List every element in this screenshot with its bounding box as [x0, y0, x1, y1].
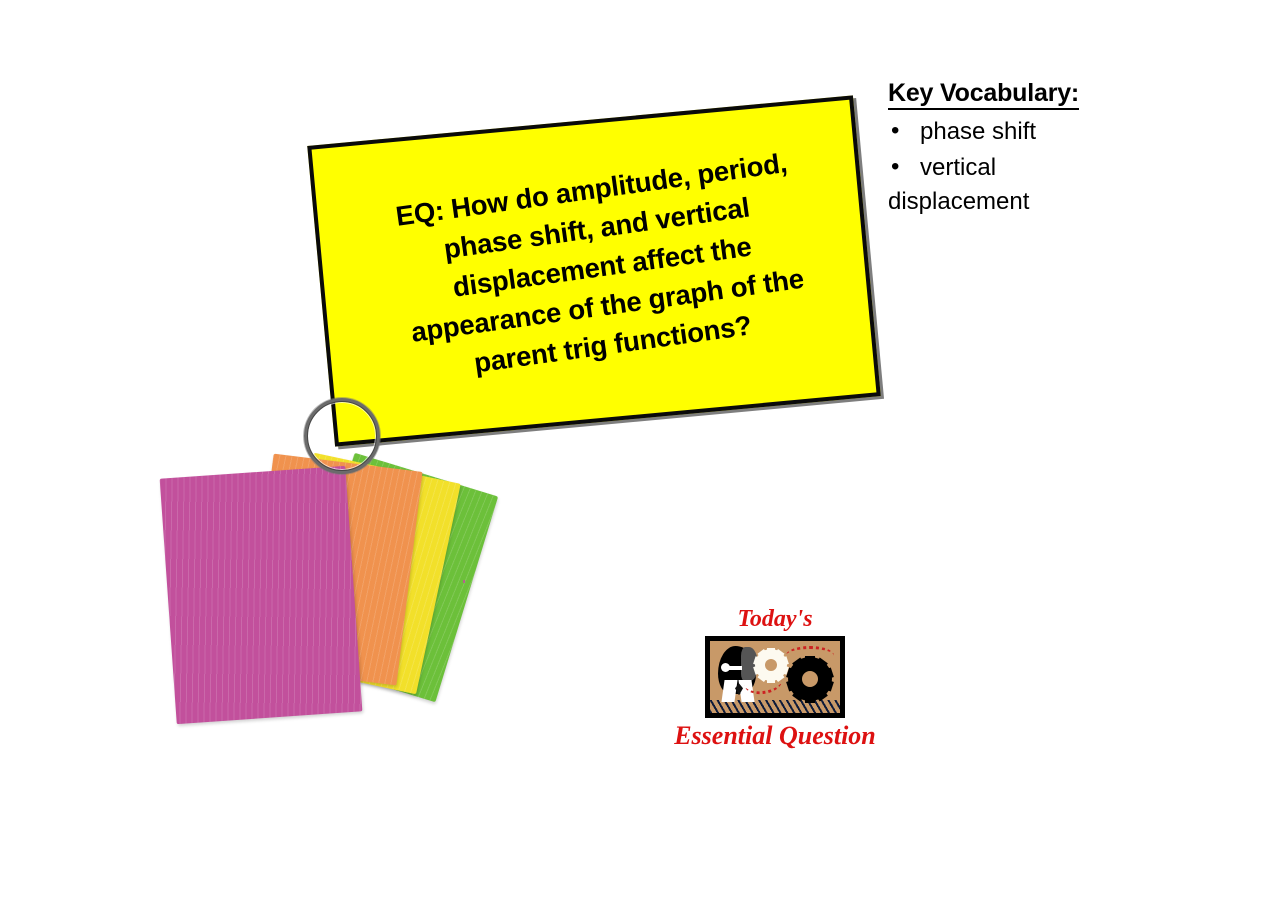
- essential-question-card: EQ: How do amplitude, period, phase shif…: [307, 95, 881, 446]
- key-vocabulary-block: Key Vocabulary: • phase shift • vertical…: [888, 80, 1168, 220]
- clipart-subtitle: Essential Question: [660, 721, 890, 751]
- metal-ring-icon: [304, 398, 380, 474]
- bullet-icon: •: [891, 149, 899, 185]
- white-gear-icon: [755, 649, 787, 681]
- decorative-speck: [463, 580, 465, 583]
- slide-canvas: Key Vocabulary: • phase shift • vertical…: [0, 0, 1280, 905]
- key-vocabulary-heading: Key Vocabulary:: [888, 80, 1079, 110]
- clipart-image-frame: [705, 636, 845, 718]
- list-item-label: phase shift: [920, 118, 1036, 145]
- eye-bar: [728, 666, 742, 670]
- list-item: • phase shift: [888, 114, 1168, 150]
- key-vocabulary-list: • phase shift • vertical: [888, 114, 1168, 186]
- bullet-icon: •: [891, 113, 899, 149]
- essential-question-text: EQ: How do amplitude, period, phase shif…: [325, 134, 879, 401]
- todays-essential-question-clipart: Today's Essential Question: [660, 606, 890, 751]
- gear-tooth: [805, 692, 815, 703]
- list-item-continuation: displacement: [888, 184, 1168, 220]
- magenta-index-card: [160, 466, 363, 724]
- list-item-label: vertical: [920, 154, 996, 181]
- black-gear-icon: [788, 657, 832, 701]
- striped-desk: [710, 700, 840, 713]
- clipart-title: Today's: [660, 606, 890, 632]
- list-item: • vertical: [888, 150, 1168, 186]
- collar-left: [721, 680, 737, 702]
